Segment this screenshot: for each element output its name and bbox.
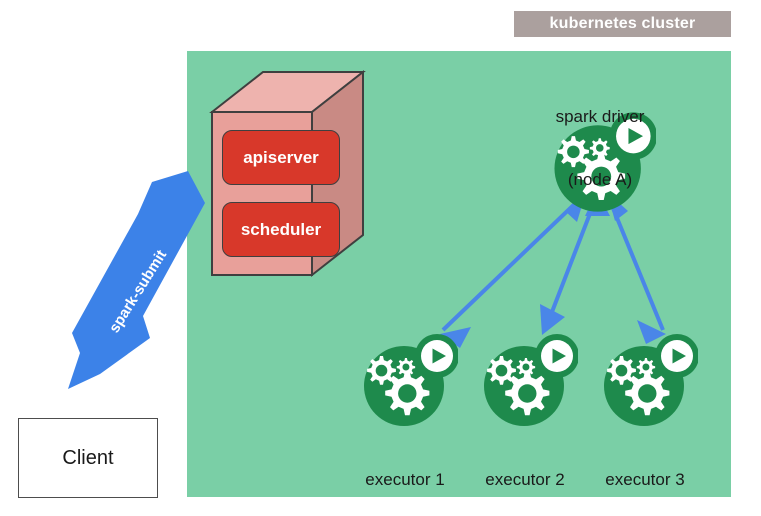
executor-3-label: executor 3 (node B) [580, 427, 710, 516]
cube-slot-scheduler[interactable]: scheduler [222, 202, 340, 257]
spark-driver-label: spark driver (node A) [512, 64, 688, 232]
kubernetes-cluster-label: kubernetes cluster [514, 11, 731, 37]
executor-2-name: executor 2 [460, 469, 590, 490]
spark-driver-node-name: (node A) [512, 169, 688, 190]
diagram-canvas: kubernetes cluster [0, 0, 761, 516]
executor-1-name: executor 1 [340, 469, 470, 490]
client-box[interactable]: Client [18, 418, 158, 498]
client-label: Client [62, 447, 113, 470]
spark-driver-name: spark driver [512, 106, 688, 127]
executor-2-label: executor 2 (node B) [460, 427, 590, 516]
executor-1-label: executor 1 (node A) [340, 427, 470, 516]
cube-slot-apiserver[interactable]: apiserver [222, 130, 340, 185]
executor-3-name: executor 3 [580, 469, 710, 490]
